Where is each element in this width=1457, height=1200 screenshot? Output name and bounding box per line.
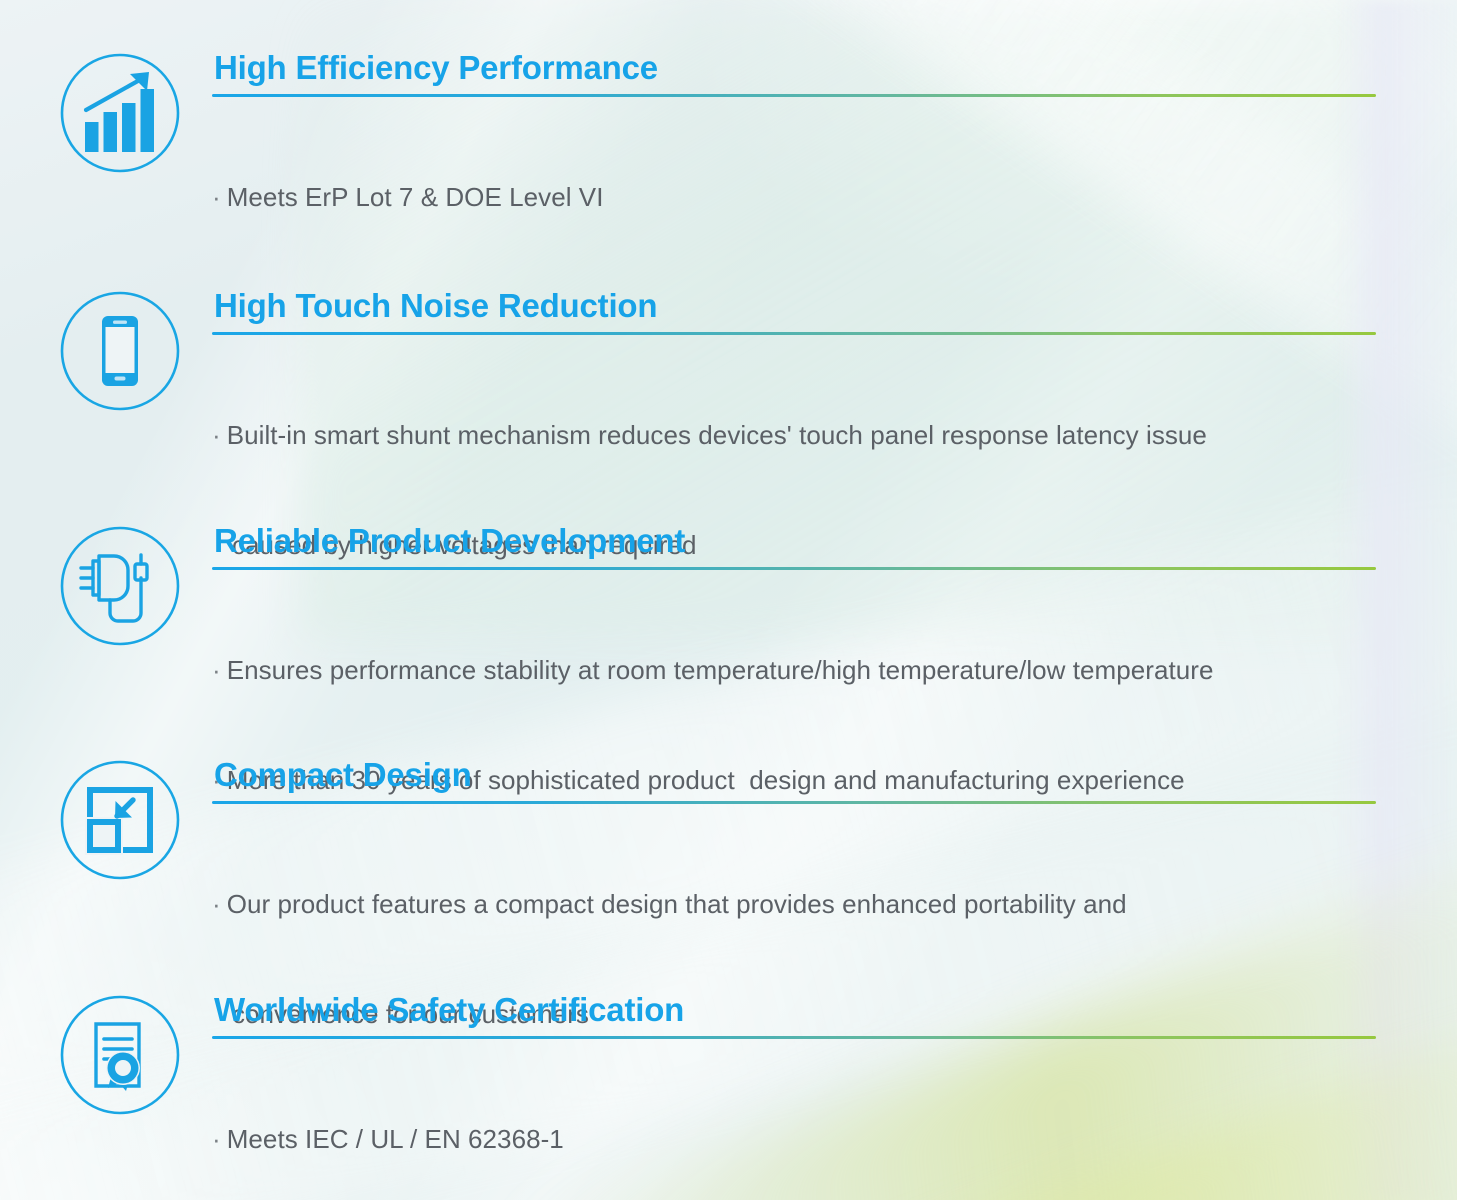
- feature-description: ·Meets IEC / UL / EN 62368-1: [212, 1047, 1376, 1200]
- bullet-marker: ·: [212, 420, 221, 450]
- bullet-text: Meets IEC / UL / EN 62368-1: [227, 1124, 564, 1154]
- feature-description: ·Meets ErP Lot 7 & DOE Level VI: [212, 105, 1376, 290]
- bullet-marker: ·: [212, 182, 221, 212]
- feature-divider: [212, 332, 1376, 335]
- feature-divider: [212, 94, 1376, 97]
- feature-body: Worldwide Safety Certification ·Meets IE…: [212, 992, 1376, 1200]
- bullet-text: Ensures performance stability at room te…: [227, 655, 1214, 685]
- certificate-seal-icon: [57, 992, 183, 1118]
- bullet-line: ·Our product features a compact design t…: [212, 886, 1376, 923]
- bullet-marker: ·: [212, 889, 221, 919]
- smartphone-icon: [57, 288, 183, 414]
- compact-resize-icon: [57, 757, 183, 883]
- bullet-line: ·Built-in smart shunt mechanism reduces …: [212, 417, 1376, 454]
- power-adapter-icon: [57, 523, 183, 649]
- feature-divider: [212, 801, 1376, 804]
- bullet-line: ·Ensures performance stability at room t…: [212, 652, 1376, 689]
- feature-title: Worldwide Safety Certification: [212, 992, 1376, 1033]
- feature-divider: [212, 567, 1376, 570]
- feature-divider: [212, 1036, 1376, 1039]
- bar-chart-growth-icon: [57, 50, 183, 176]
- bullet-line: ·Meets IEC / UL / EN 62368-1: [212, 1121, 1376, 1158]
- feature-title: High Efficiency Performance: [212, 50, 1376, 91]
- feature-title: Compact Design: [212, 757, 1376, 798]
- bullet-marker: ·: [212, 655, 221, 685]
- bullet-marker: ·: [212, 1124, 221, 1154]
- bullet-line: ·Meets ErP Lot 7 & DOE Level VI: [212, 179, 1376, 216]
- feature-title: Reliable Product Development: [212, 523, 1376, 564]
- feature-highlights-page: High Efficiency Performance ·Meets ErP L…: [0, 0, 1457, 1200]
- bullet-text: Meets ErP Lot 7 & DOE Level VI: [227, 182, 604, 212]
- feature-body: High Efficiency Performance ·Meets ErP L…: [212, 50, 1376, 289]
- bullet-text: Our product features a compact design th…: [227, 889, 1127, 919]
- feature-title: High Touch Noise Reduction: [212, 288, 1376, 329]
- bullet-text: Built-in smart shunt mechanism reduces d…: [227, 420, 1207, 450]
